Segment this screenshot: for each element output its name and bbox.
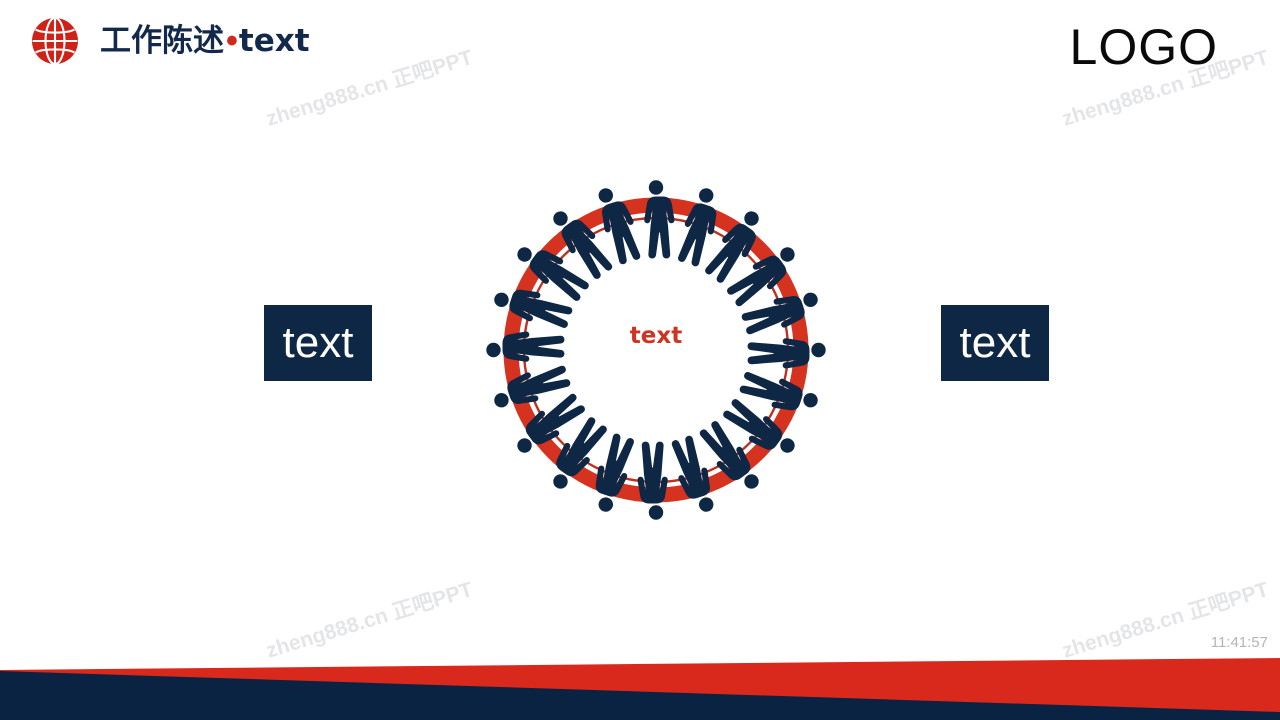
people-circle-diagram: text <box>406 100 906 600</box>
slide-canvas: 工作陈述•text LOGO <box>0 0 1280 720</box>
brand-title-dot: • <box>226 24 238 58</box>
brand-title-cn: 工作陈述 <box>100 26 224 57</box>
logo-placeholder: LOGO <box>1070 22 1218 72</box>
text-box-left[interactable]: text <box>264 305 372 381</box>
people-ring <box>486 180 825 519</box>
brand-title-en: text <box>239 26 310 57</box>
timestamp: 11:41:57 <box>1211 634 1268 651</box>
footer-banner <box>0 640 1280 720</box>
slide-header: 工作陈述•text LOGO <box>0 0 1280 95</box>
diagram-center-label: text <box>406 323 906 349</box>
text-box-right[interactable]: text <box>941 305 1049 381</box>
text-box-left-label: text <box>283 321 354 365</box>
brand-title: 工作陈述•text <box>100 24 310 58</box>
text-box-right-label: text <box>960 321 1031 365</box>
globe-icon <box>28 14 82 68</box>
brand-lockup: 工作陈述•text <box>28 14 310 68</box>
